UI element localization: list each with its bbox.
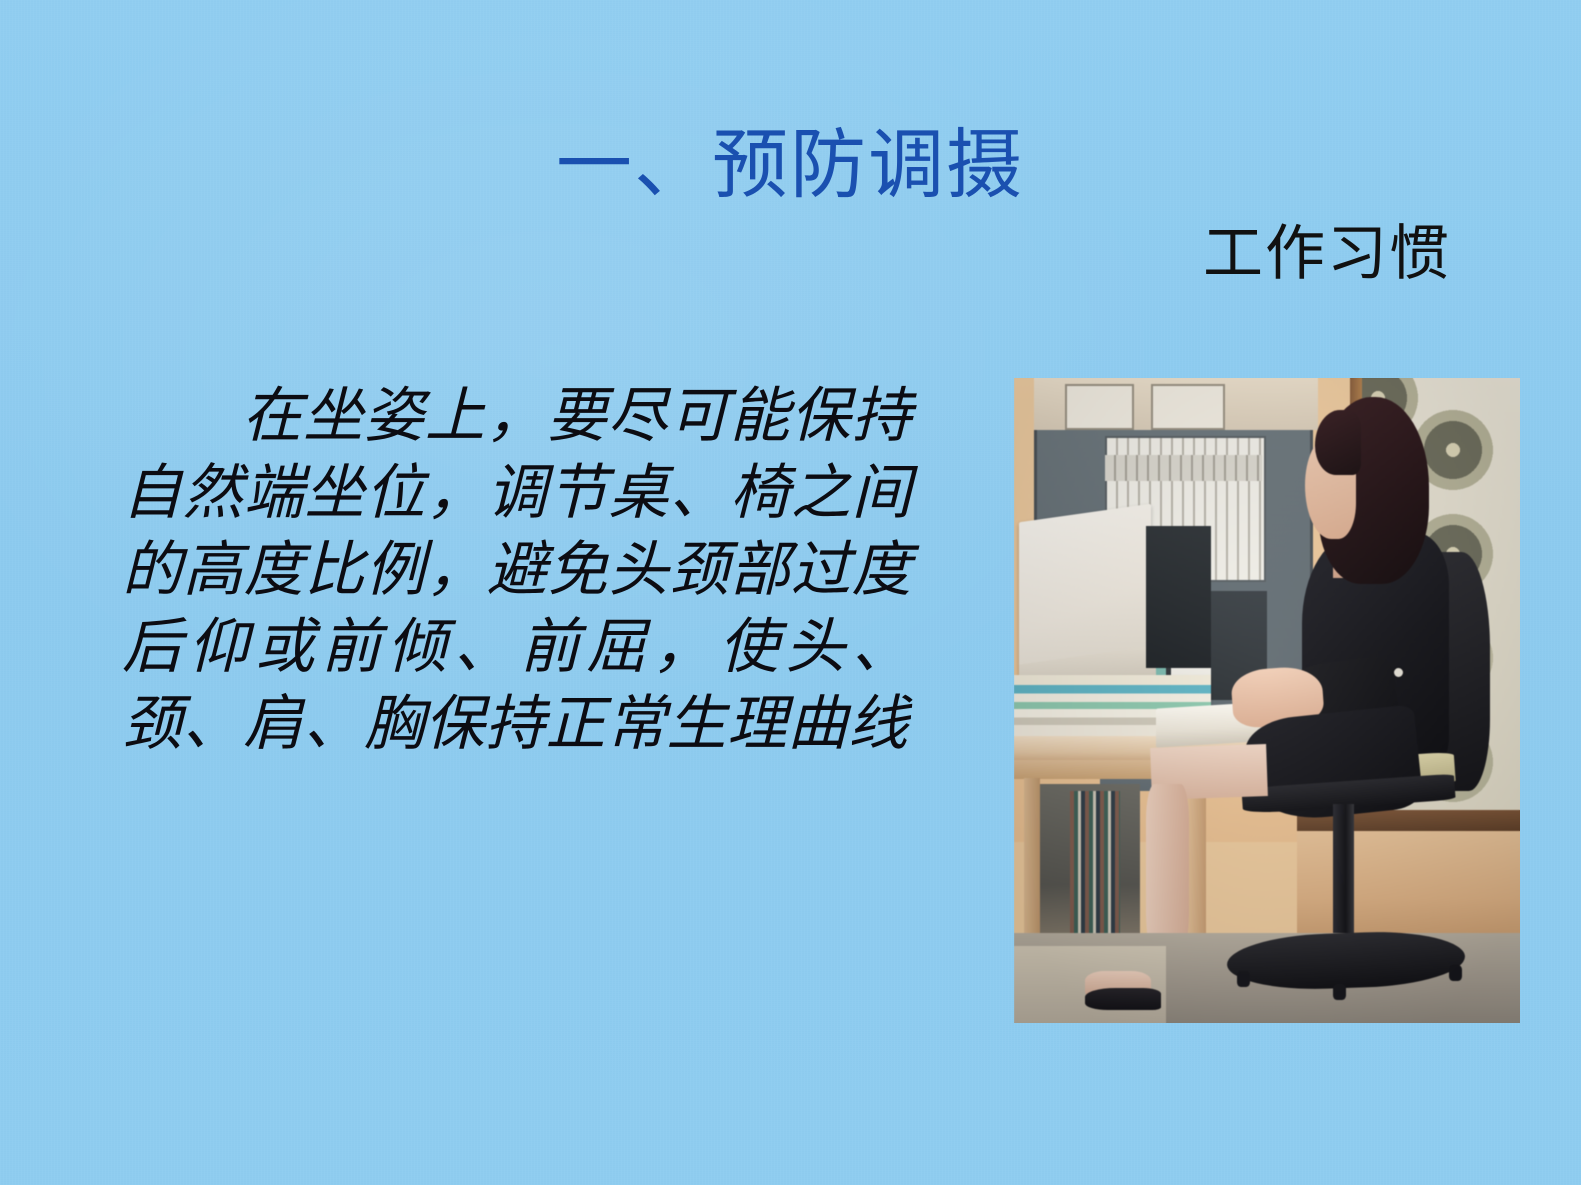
office-ergonomics-photo: [1014, 378, 1520, 1023]
page-title: 一、预防调摄: [430, 128, 1150, 204]
cabinet-document-b: [1151, 384, 1226, 430]
person-sandal: [1085, 988, 1161, 1011]
section-subtitle: 工作习惯: [1203, 224, 1451, 284]
photo-scene: [1014, 378, 1520, 1023]
ring-binders-labels: [1105, 455, 1262, 481]
wood-floor: [1297, 817, 1520, 933]
lower-shelf-books: [1070, 791, 1121, 933]
chair-castor-right: [1449, 965, 1462, 981]
slide-canvas: 一、预防调摄 工作习惯 在坐姿上，要尽可能保持自然端坐位，调节桌、椅之间的高度比…: [0, 0, 1581, 1185]
chair-gas-cylinder: [1333, 804, 1354, 946]
jacket-button-a: [1394, 668, 1403, 677]
monitor-screen: [1146, 526, 1212, 668]
body-paragraph: 在坐姿上，要尽可能保持自然端坐位，调节桌、椅之间的高度比例，避免头颈部过度后仰或…: [122, 378, 912, 763]
person-fringe: [1315, 410, 1361, 475]
cabinet-document-a: [1065, 384, 1135, 430]
chair-castor-left: [1237, 971, 1250, 987]
chair-castor-center: [1333, 984, 1346, 1000]
